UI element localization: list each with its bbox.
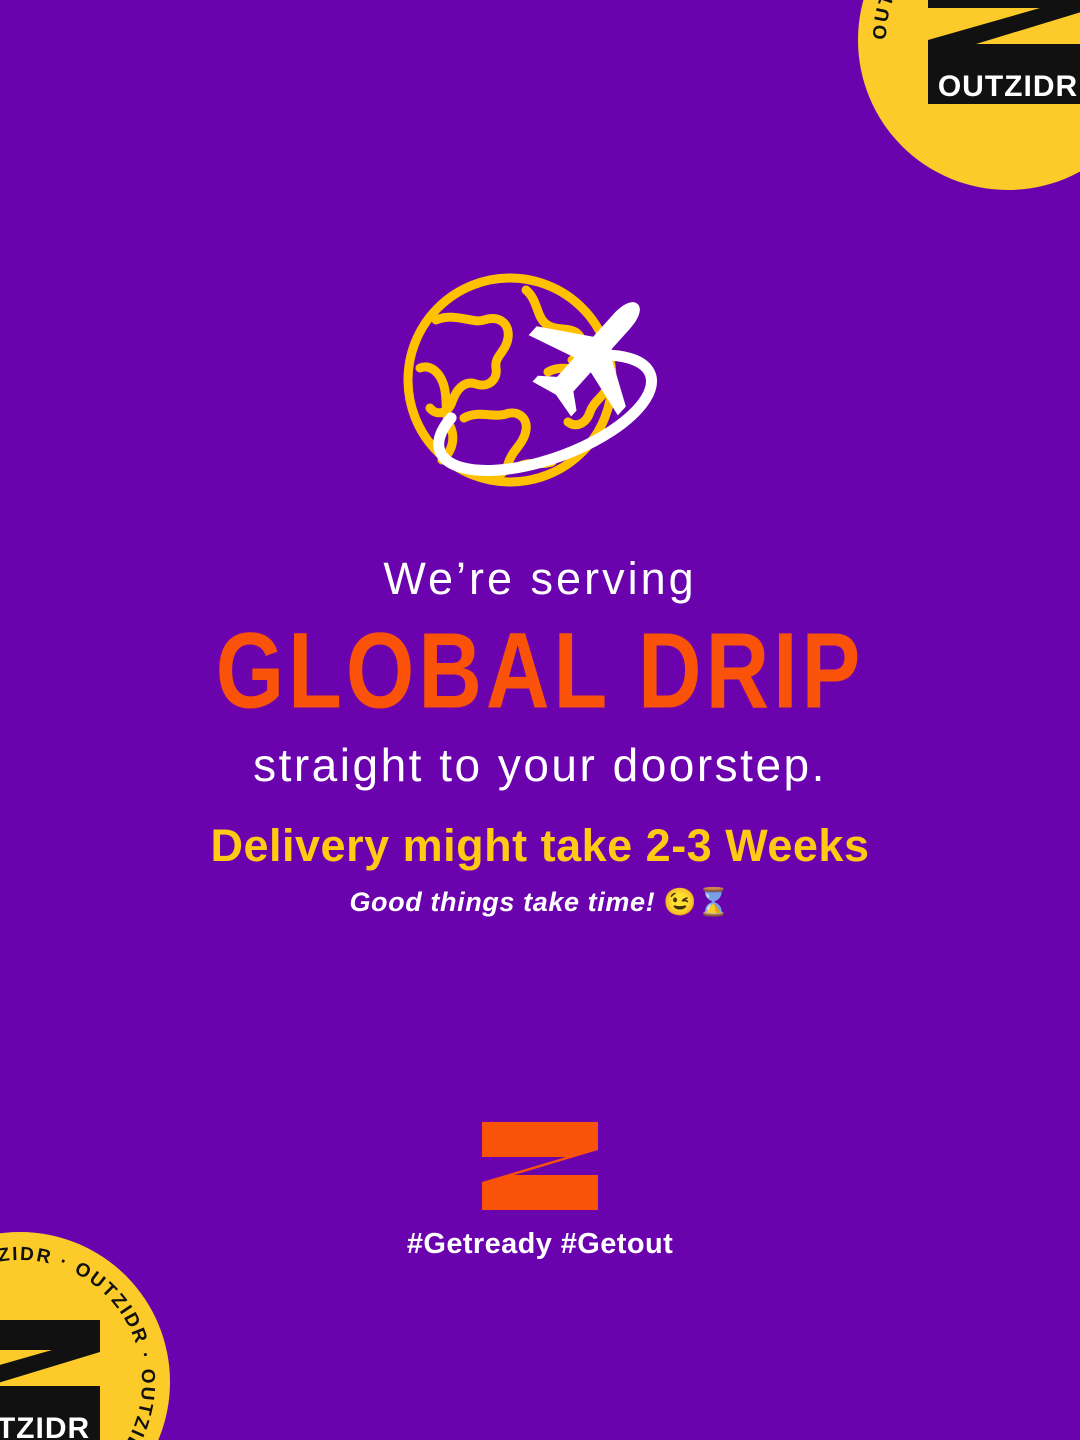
badge-z-logo-icon: OUTZIDR — [0, 1316, 106, 1440]
headline-block: We’re serving GLOBAL DRIP straight to yo… — [0, 552, 1080, 793]
headline-line-2: GLOBAL DRIP — [0, 611, 1080, 731]
delivery-subtext-text: Good things take time! — [349, 887, 655, 917]
wink-hourglass-emoji: 😉⌛ — [663, 887, 730, 917]
delivery-note-block: Delivery might take 2-3 Weeks Good thing… — [0, 820, 1080, 918]
badge-center-wordmark: OUTZIDR — [0, 1412, 90, 1440]
badge-core-bottom-left: OUTZIDR — [0, 1316, 106, 1440]
headline-line-3: straight to your doorstep. — [0, 738, 1080, 793]
badge-core-top-right: OUTZIDR — [922, 0, 1080, 106]
outzidr-stamp-top-right: OUTZIDR · OUTZIDR · OUTZIDR · OUTZIDR · … — [858, 0, 1080, 190]
globe-plane-illustration — [360, 272, 720, 512]
outzidr-stamp-bottom-left: OUTZIDR · OUTZIDR · OUTZIDR · OUTZIDR · … — [0, 1232, 170, 1440]
brand-z-logo-icon — [478, 1120, 602, 1212]
badge-center-wordmark: OUTZIDR — [938, 70, 1078, 103]
badge-z-logo-icon: OUTZIDR — [922, 0, 1080, 106]
delivery-headline: Delivery might take 2-3 Weeks — [0, 820, 1080, 872]
delivery-subtext: Good things take time! 😉⌛ — [0, 886, 1080, 918]
poster-canvas: We’re serving GLOBAL DRIP straight to yo… — [0, 0, 1080, 1440]
headline-line-1: We’re serving — [0, 552, 1080, 605]
